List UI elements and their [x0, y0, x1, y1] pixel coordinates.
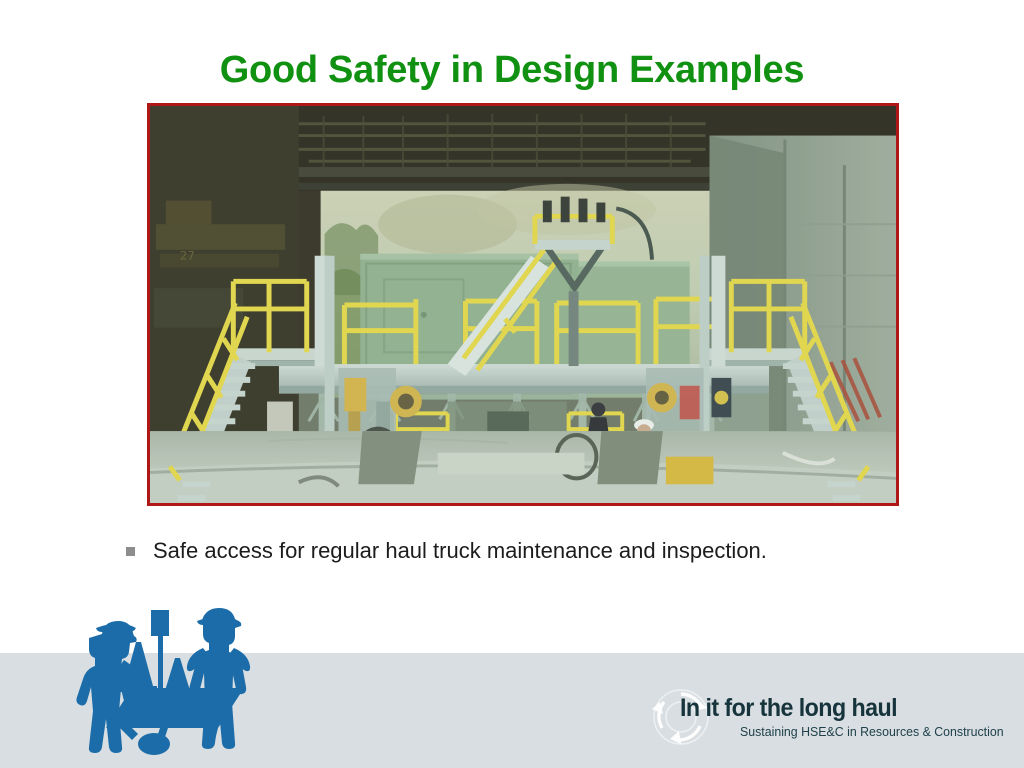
- bullet-marker-icon: [126, 547, 135, 556]
- page-title: Good Safety in Design Examples: [0, 48, 1024, 92]
- construction-workers-silhouette: [76, 604, 262, 756]
- bullet-list: Safe access for regular haul truck maint…: [126, 536, 986, 566]
- industrial-haul-truck-maintenance-bay-image: 27: [150, 106, 896, 503]
- slide-canvas: Good Safety in Design Examples: [0, 0, 1024, 768]
- logo-tagline-text: Sustaining HSE&C in Resources & Construc…: [740, 724, 1004, 739]
- workers-silhouette-graphic: [76, 604, 262, 756]
- brand-logo: In it for the long haul Sustaining HSE&C…: [648, 684, 992, 748]
- logo-title-text: In it for the long haul: [680, 694, 897, 723]
- bullet-item-text: Safe access for regular haul truck maint…: [153, 536, 767, 566]
- photo-frame: 27: [147, 103, 899, 506]
